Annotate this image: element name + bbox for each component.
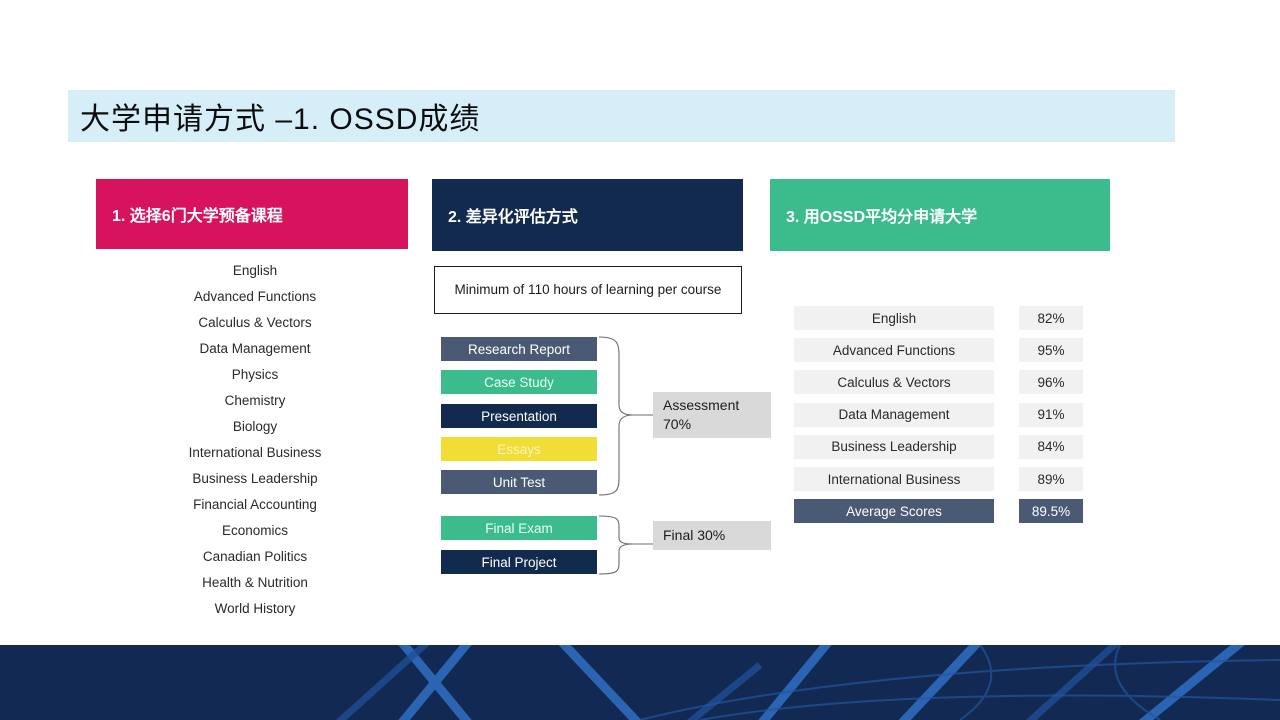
score-row-name: International Business — [794, 467, 994, 491]
score-row-value: 95% — [1019, 338, 1083, 362]
footer-bar: ROSEDALE ROSEDALE GLOBAL HIGH SCHOOL 公众号… — [0, 645, 1280, 720]
course-item: Business Leadership — [140, 466, 370, 492]
column-header-1: 1. 选择6门大学预备课程 — [96, 179, 408, 249]
score-row-value: 82% — [1019, 306, 1083, 330]
score-row-name: Data Management — [794, 403, 994, 427]
assessment-item-research-report: Research Report — [441, 337, 597, 361]
assessment-item-case-study: Case Study — [441, 370, 597, 394]
course-item: Biology — [140, 414, 370, 440]
score-row-value: 91% — [1019, 403, 1083, 427]
assessment-item-presentation: Presentation — [441, 404, 597, 428]
course-item: Data Management — [140, 336, 370, 362]
course-item: Chemistry — [140, 388, 370, 414]
final-weight-callout: Final 30% — [653, 521, 771, 550]
assessment-weight-callout: Assessment 70% — [653, 392, 771, 438]
course-list: EnglishAdvanced FunctionsCalculus & Vect… — [140, 258, 370, 622]
footer-stripe-pattern — [0, 645, 1280, 720]
column-header-2: 2. 差异化评估方式 — [432, 179, 743, 251]
course-item: Physics — [140, 362, 370, 388]
final-item-final-exam: Final Exam — [441, 516, 597, 540]
page-title: 大学申请方式 –1. OSSD成绩 — [68, 94, 480, 138]
course-item: Canadian Politics — [140, 544, 370, 570]
course-item: Health & Nutrition — [140, 570, 370, 596]
course-item: English — [140, 258, 370, 284]
course-item: Calculus & Vectors — [140, 310, 370, 336]
column-header-3-label: 3. 用OSSD平均分申请大学 — [770, 203, 977, 227]
assessment-item-unit-test: Unit Test — [441, 470, 597, 494]
column-header-1-label: 1. 选择6门大学预备课程 — [96, 202, 283, 226]
score-row-value: 89% — [1019, 467, 1083, 491]
final-item-final-project: Final Project — [441, 550, 597, 574]
score-row-name: Advanced Functions — [794, 338, 994, 362]
course-item: Economics — [140, 518, 370, 544]
slide-title-bar: 大学申请方式 –1. OSSD成绩 — [68, 90, 1175, 142]
course-item: Financial Accounting — [140, 492, 370, 518]
final-brace-icon — [597, 512, 659, 578]
score-row-value: 96% — [1019, 370, 1083, 394]
minimum-hours-note: Minimum of 110 hours of learning per cou… — [434, 266, 742, 314]
course-item: International Business — [140, 440, 370, 466]
score-row-value: 84% — [1019, 435, 1083, 459]
score-row-name: Business Leadership — [794, 435, 994, 459]
score-row-name: Calculus & Vectors — [794, 370, 994, 394]
column-header-2-label: 2. 差异化评估方式 — [432, 203, 578, 227]
course-item: Advanced Functions — [140, 284, 370, 310]
assessment-brace-icon — [597, 333, 659, 498]
score-row-name: Average Scores — [794, 499, 994, 523]
column-header-3: 3. 用OSSD平均分申请大学 — [770, 179, 1110, 251]
course-item: World History — [140, 596, 370, 622]
score-row-name: English — [794, 306, 994, 330]
score-row-value: 89.5% — [1019, 499, 1083, 523]
assessment-item-essays: Essays — [441, 437, 597, 461]
